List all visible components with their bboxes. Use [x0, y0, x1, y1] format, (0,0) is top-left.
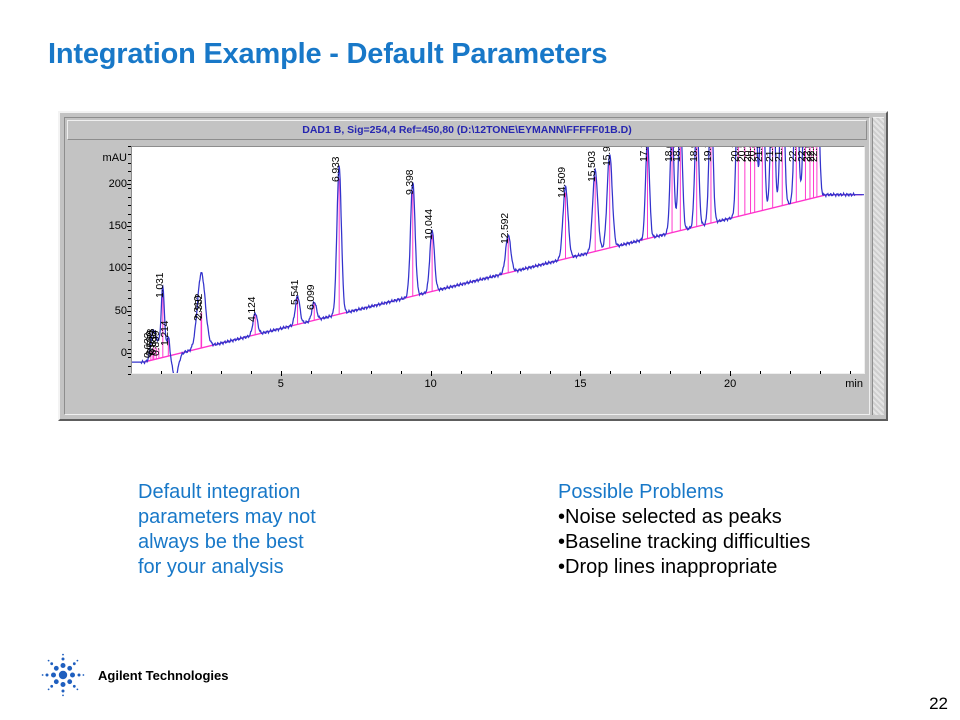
- peak-retention-time-label: 21.763: [773, 146, 785, 162]
- peak-retention-time-label: 6.933: [330, 157, 342, 182]
- signal-description-label: DAD1 B, Sig=254,4 Ref=450,80 (D:\12TONE\…: [302, 124, 631, 136]
- left-text-line: Default integration: [138, 480, 348, 505]
- page-title: Integration Example - Default Parameters: [48, 38, 607, 71]
- right-text-block: Possible Problems •Noise selected as pea…: [558, 480, 938, 580]
- plot-area: 0.6330.6990.7330.8120.8991.0311.2142.310…: [131, 146, 865, 374]
- x-axis-minor-tick: [161, 371, 162, 374]
- y-axis: mAU 050100150200: [65, 146, 127, 374]
- x-axis-minor-tick: [221, 371, 222, 374]
- problem-bullet-item: •Baseline tracking difficulties: [558, 530, 938, 555]
- x-axis-tick-label: 20: [724, 378, 736, 390]
- chromatogram-header: DAD1 B, Sig=254,4 Ref=450,80 (D:\12TONE\…: [67, 120, 867, 140]
- y-axis-unit-label: mAU: [103, 152, 127, 164]
- peak-retention-time-label: 15.988: [601, 146, 613, 166]
- x-axis-minor-tick: [191, 371, 192, 374]
- peak-retention-time-label: 9.398: [404, 169, 416, 194]
- peak-retention-time-label: 22.925: [808, 146, 820, 162]
- problem-bullet-list: •Noise selected as peaks•Baseline tracki…: [558, 505, 938, 580]
- peak-retention-time-label: 18.352: [671, 146, 683, 162]
- peak-retention-time-label: 1.031: [154, 273, 166, 298]
- x-axis-minor-tick: [700, 371, 701, 374]
- x-axis-minor-tick: [850, 371, 851, 374]
- page-number: 22: [929, 694, 948, 714]
- x-axis-tick-label: 5: [278, 378, 284, 390]
- x-axis-minor-tick: [610, 371, 611, 374]
- vertical-scrollbar[interactable]: [872, 117, 884, 415]
- possible-problems-heading: Possible Problems: [558, 480, 938, 505]
- x-axis-minor-tick: [760, 371, 761, 374]
- x-axis-tick-label: 10: [424, 378, 436, 390]
- x-axis-minor-tick: [640, 371, 641, 374]
- chromatogram-trace: [132, 147, 864, 373]
- company-name-label: Agilent Technologies: [98, 668, 229, 683]
- x-axis-minor-tick: [491, 371, 492, 374]
- peak-retention-time-label: 2.332: [193, 294, 205, 319]
- peak-retention-time-label: 10.044: [423, 209, 435, 240]
- peak-retention-time-label: 14.509: [556, 167, 568, 198]
- x-axis-tick-label: 15: [574, 378, 586, 390]
- problem-bullet-item: •Noise selected as peaks: [558, 505, 938, 530]
- peak-retention-time-label: 4.124: [246, 296, 258, 321]
- peak-retention-time-label: 1.214: [159, 321, 171, 346]
- x-axis-minor-tick: [371, 371, 372, 374]
- x-axis-minor-tick: [670, 371, 671, 374]
- drop-lines: [151, 147, 817, 360]
- peak-retention-time-label: 12.592: [499, 214, 511, 245]
- left-text-block: Default integrationparameters may notalw…: [138, 480, 348, 580]
- peak-retention-time-label: 17.253: [638, 146, 650, 162]
- y-axis-tick-label: 50: [115, 305, 127, 317]
- chromatogram-inner-frame: DAD1 B, Sig=254,4 Ref=450,80 (D:\12TONE\…: [64, 117, 870, 415]
- peak-retention-time-label: 5.541: [289, 280, 301, 305]
- y-axis-tick-label: 150: [109, 220, 127, 232]
- x-axis-minor-tick: [341, 371, 342, 374]
- x-axis-minor-tick: [790, 371, 791, 374]
- scrollbar-track[interactable]: [873, 118, 884, 415]
- left-text-line: always be the best: [138, 530, 348, 555]
- x-axis-minor-tick: [311, 371, 312, 374]
- y-axis-tick-label: 100: [109, 262, 127, 274]
- peak-retention-time-label: 6.099: [305, 285, 317, 310]
- x-axis-minor-tick: [401, 371, 402, 374]
- left-text-line: for your analysis: [138, 555, 348, 580]
- x-axis-minor-tick: [461, 371, 462, 374]
- x-axis-minor-tick: [251, 371, 252, 374]
- footer-logo: Agilent Technologies: [40, 652, 229, 698]
- chromatogram-window: DAD1 B, Sig=254,4 Ref=450,80 (D:\12TONE\…: [58, 111, 888, 421]
- problem-bullet-item: •Drop lines inappropriate: [558, 555, 938, 580]
- peak-retention-time-label: 19.379: [702, 146, 714, 162]
- peak-retention-time-label: 18.902: [688, 146, 700, 162]
- x-axis: min 5101520: [131, 376, 865, 396]
- peak-retention-time-label: 15.503: [586, 151, 598, 182]
- left-text-line: parameters may not: [138, 505, 348, 530]
- x-axis-unit-label: min: [845, 378, 863, 390]
- agilent-starburst-logo: [40, 652, 86, 698]
- x-axis-minor-tick: [550, 371, 551, 374]
- x-axis-minor-tick: [520, 371, 521, 374]
- y-axis-tick-label: 200: [109, 178, 127, 190]
- x-axis-minor-tick: [820, 371, 821, 374]
